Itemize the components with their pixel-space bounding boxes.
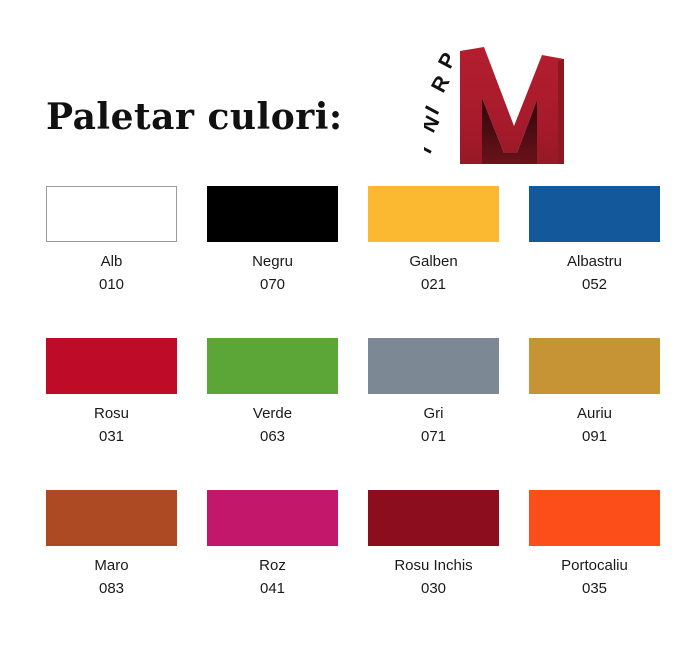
color-swatch-item[interactable]: Alb 010 — [46, 186, 177, 338]
mprint-logo: P R I N T — [424, 28, 574, 173]
color-swatch[interactable] — [46, 338, 177, 394]
color-code: 035 — [582, 579, 607, 599]
logo-m-letter — [460, 47, 564, 164]
color-name: Verde — [253, 404, 292, 424]
color-code: 041 — [260, 579, 285, 599]
palette-row: Maro 083 Roz 041 Rosu Inchis 030 Portoca… — [46, 490, 660, 642]
color-code: 021 — [421, 275, 446, 295]
color-swatch-item[interactable]: Rosu Inchis 030 — [368, 490, 499, 642]
logo-letter-p: P — [434, 49, 461, 72]
color-name: Alb — [101, 252, 123, 272]
color-swatch-item[interactable]: Portocaliu 035 — [529, 490, 660, 642]
color-swatch[interactable] — [46, 186, 177, 242]
color-name: Albastru — [567, 252, 622, 272]
color-name: Roz — [259, 556, 286, 576]
color-swatch-item[interactable]: Galben 021 — [368, 186, 499, 338]
color-swatch-item[interactable]: Gri 071 — [368, 338, 499, 490]
color-code: 070 — [260, 275, 285, 295]
color-code: 083 — [99, 579, 124, 599]
color-swatch-item[interactable]: Maro 083 — [46, 490, 177, 642]
color-name: Auriu — [577, 404, 612, 424]
color-name: Maro — [94, 556, 128, 576]
color-swatch[interactable] — [368, 186, 499, 242]
color-name: Portocaliu — [561, 556, 628, 576]
color-swatch-item[interactable]: Negru 070 — [207, 186, 338, 338]
color-name: Negru — [252, 252, 293, 272]
color-swatch-item[interactable]: Roz 041 — [207, 490, 338, 642]
color-name: Rosu Inchis — [394, 556, 472, 576]
color-name: Galben — [409, 252, 457, 272]
color-palette-grid: Alb 010 Negru 070 Galben 021 Albastru 05… — [46, 186, 660, 642]
palette-row: Rosu 031 Verde 063 Gri 071 Auriu 091 — [46, 338, 660, 490]
color-code: 030 — [421, 579, 446, 599]
color-swatch[interactable] — [207, 338, 338, 394]
color-swatch[interactable] — [368, 338, 499, 394]
color-code: 031 — [99, 427, 124, 447]
color-swatch-item[interactable]: Rosu 031 — [46, 338, 177, 490]
color-palette-page: Paletar culori: — [0, 0, 700, 658]
color-code: 010 — [99, 275, 124, 295]
color-swatch-item[interactable]: Auriu 091 — [529, 338, 660, 490]
logo-letter-r: R — [427, 72, 454, 96]
color-swatch[interactable] — [46, 490, 177, 546]
page-header: Paletar culori: — [0, 0, 700, 180]
color-swatch[interactable] — [207, 186, 338, 242]
color-code: 091 — [582, 427, 607, 447]
palette-row: Alb 010 Negru 070 Galben 021 Albastru 05… — [46, 186, 660, 338]
color-swatch[interactable] — [368, 490, 499, 546]
color-swatch-item[interactable]: Albastru 052 — [529, 186, 660, 338]
color-swatch-item[interactable]: Verde 063 — [207, 338, 338, 490]
color-swatch[interactable] — [529, 490, 660, 546]
color-name: Gri — [424, 404, 444, 424]
color-swatch[interactable] — [529, 338, 660, 394]
color-swatch[interactable] — [529, 186, 660, 242]
color-code: 071 — [421, 427, 446, 447]
page-title: Paletar culori: — [46, 96, 343, 138]
logo-print-word: P R I N T — [424, 49, 461, 160]
color-code: 063 — [260, 427, 285, 447]
color-code: 052 — [582, 275, 607, 295]
color-swatch[interactable] — [207, 490, 338, 546]
color-name: Rosu — [94, 404, 129, 424]
logo-letter-t: T — [424, 138, 439, 160]
